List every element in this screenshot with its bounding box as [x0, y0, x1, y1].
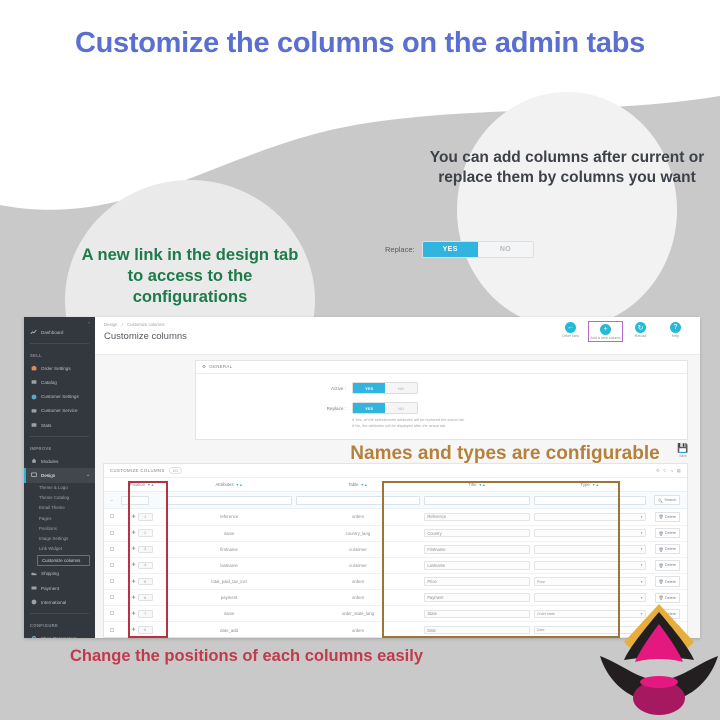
row-type-cell: ▾ — [532, 541, 648, 557]
row-table: customer — [294, 557, 423, 573]
sidebar-item-modules[interactable]: Modules — [24, 454, 95, 468]
row-attribute: reference — [165, 509, 294, 525]
sidebar-item-international[interactable]: International — [24, 595, 95, 609]
sidebar-item-label: Customer Service — [41, 408, 78, 413]
row-position-cell: ✚2 — [119, 525, 164, 541]
bubble-replace-toggle-group: Replace: YES NO — [385, 241, 534, 258]
col-position[interactable]: Position▼▲ — [119, 478, 164, 492]
row-title-input[interactable]: Country — [424, 529, 530, 538]
row-checkbox[interactable] — [110, 514, 114, 518]
row-title-input[interactable]: Reference — [424, 513, 530, 522]
filter-action-cell: 🔍Search — [648, 492, 687, 509]
callout-add-or-replace: You can add columns after current or rep… — [428, 148, 706, 188]
row-action-cell: 🗑Delete — [648, 525, 687, 541]
row-table: order_state_lang — [294, 606, 423, 622]
sidebar-item-customer-settings[interactable]: Customer Settings — [24, 390, 95, 404]
sidebar-item-shipping[interactable]: Shipping — [24, 567, 95, 581]
row-checkbox[interactable] — [110, 595, 114, 599]
row-checkbox[interactable] — [110, 611, 114, 615]
active-yes[interactable]: YES — [353, 383, 385, 393]
row-checkbox-cell — [104, 509, 119, 525]
sidebar-item-label: Stats — [41, 423, 51, 428]
sort-icon[interactable]: ▼▲ — [361, 483, 368, 487]
sidebar-section-sell: SELL — [24, 348, 95, 361]
puzzle-icon — [30, 458, 37, 465]
row-position-cell: ✚1 — [119, 509, 164, 525]
arrow-left-circle-icon: ← — [565, 322, 576, 333]
sort-icon[interactable]: ▼▲ — [147, 483, 154, 487]
sidebar-subitem-theme-catalog[interactable]: Theme Catalog — [24, 493, 95, 503]
search-label: Search — [664, 498, 676, 502]
filter-dash: − — [104, 492, 119, 509]
row-checkbox[interactable] — [110, 563, 114, 567]
panel-header: CUSTOMIZE COLUMNS10 ⚙ ↻ ↘ ▦ — [104, 464, 687, 478]
globe-icon — [30, 599, 37, 606]
table-row: ✚4lastnamecustomerLastname▾🗑Delete — [104, 557, 687, 573]
customer-icon — [30, 393, 37, 400]
chevron-down-icon: ▾ — [641, 515, 643, 519]
chevron-up-icon: ^ — [87, 473, 89, 478]
display-icon — [30, 472, 37, 479]
row-type-select[interactable]: Price▾ — [534, 577, 646, 586]
row-position-cell: ✚7 — [119, 606, 164, 622]
toolbar-label: Help — [659, 334, 692, 338]
row-action-cell: 🗑Delete — [648, 574, 687, 590]
row-action-cell: 🗑Delete — [648, 541, 687, 557]
page-title: Customize the columns on the admin tabs — [0, 27, 720, 60]
row-position-input[interactable]: 1 — [138, 513, 153, 521]
delete-button[interactable]: 🗑Delete — [655, 512, 680, 522]
sidebar-subitem-email-theme[interactable]: Email Theme — [24, 503, 95, 513]
helper-line-2: If No, the attributes will be displayed … — [352, 423, 687, 429]
row-attribute: date_add — [165, 622, 294, 638]
refresh-icon: ↻ — [635, 322, 646, 333]
toolbar-help[interactable]: ? Help — [659, 322, 692, 341]
row-checkbox-cell — [104, 525, 119, 541]
drag-handle-icon[interactable]: ✚ — [131, 579, 135, 585]
table-row: ✚5total_paid_tax_inclordersPricePrice▾🗑D… — [104, 574, 687, 590]
sidebar-divider-3 — [30, 613, 89, 614]
row-checkbox-cell — [104, 574, 119, 590]
admin-screenshot: « Dashboard SELL Order Settings Catalog … — [24, 317, 700, 638]
row-attribute: payment — [165, 590, 294, 606]
stats-icon — [30, 422, 37, 429]
row-position-input[interactable]: 4 — [138, 562, 153, 570]
sidebar-divider-2 — [30, 436, 89, 437]
row-type-select[interactable]: ▾ — [534, 529, 646, 538]
sidebar-item-order-settings[interactable]: Order Settings — [24, 361, 95, 375]
row-type-select[interactable]: ▾ — [534, 513, 646, 522]
row-position-input[interactable]: 5 — [138, 578, 153, 586]
drag-handle-icon[interactable]: ✚ — [131, 627, 135, 633]
row-checkbox-cell — [104, 541, 119, 557]
admin-sidebar: « Dashboard SELL Order Settings Catalog … — [24, 317, 95, 638]
row-title-input[interactable]: Payment — [424, 593, 530, 602]
row-type-cell: ▾ — [532, 557, 648, 573]
row-table: customer — [294, 541, 423, 557]
row-type-select[interactable]: ▾ — [534, 561, 646, 570]
filter-title-cell — [422, 492, 532, 509]
toolbar-label: Reload — [624, 334, 657, 338]
row-attribute: total_paid_tax_incl — [165, 574, 294, 590]
sidebar-item-customer-service[interactable]: Customer Service — [24, 404, 95, 418]
row-title-cell: Lastname — [422, 557, 532, 573]
filter-type-input[interactable] — [534, 496, 646, 505]
row-table: country_lang — [294, 525, 423, 541]
row-position-input[interactable]: 6 — [138, 594, 153, 602]
toolbar-label: Add a new column — [589, 336, 622, 340]
row-checkbox-cell — [104, 622, 119, 638]
row-type-select[interactable]: ▾ — [534, 545, 646, 554]
drag-handle-icon[interactable]: ✚ — [131, 546, 135, 552]
sidebar-subitem-link-widget[interactable]: Link Widget — [24, 544, 95, 554]
filter-type-cell — [532, 492, 648, 509]
chevron-down-icon: ▾ — [641, 580, 643, 584]
toolbar-label: Other tabs — [554, 334, 587, 338]
question-circle-icon: ? — [670, 322, 681, 333]
col-attributes[interactable]: Attributes▼▲ — [165, 478, 294, 492]
row-table: orders — [294, 622, 423, 638]
filter-attributes-input[interactable] — [167, 496, 292, 505]
toolbar-reload[interactable]: ↻ Reload — [624, 322, 657, 341]
dashboard-icon — [30, 329, 37, 336]
row-attribute: name — [165, 606, 294, 622]
replace-no[interactable]: NO — [385, 403, 417, 413]
sidebar-item-design[interactable]: Design ^ — [24, 468, 95, 482]
row-checkbox[interactable] — [110, 579, 114, 583]
breadcrumb-separator: / — [122, 322, 123, 327]
table-row: ✚3firstnamecustomerFirstname▾🗑Delete — [104, 541, 687, 557]
trash-icon: 🗑 — [659, 563, 664, 568]
row-table: orders — [294, 509, 423, 525]
sort-icon[interactable]: ▼▲ — [592, 483, 599, 487]
sort-icon[interactable]: ▼▲ — [479, 483, 486, 487]
filter-position-input[interactable] — [121, 496, 149, 505]
general-card: ⚙GENERAL Active : YES NO Replace : YES N… — [195, 360, 688, 440]
active-no[interactable]: NO — [385, 383, 417, 393]
catalog-icon — [30, 379, 37, 386]
sort-icon[interactable]: ▼▲ — [236, 483, 243, 487]
sidebar-section-configure: CONFIGURE — [24, 618, 95, 631]
trash-icon: 🗑 — [659, 547, 664, 552]
gear-icon — [30, 635, 37, 638]
sidebar-item-label: Modules — [41, 459, 58, 464]
chevron-down-icon: ▾ — [641, 531, 643, 535]
filter-table-cell — [294, 492, 423, 509]
general-card-title: GENERAL — [209, 364, 232, 369]
sidebar-item-label: Catalog — [41, 380, 57, 385]
delete-button[interactable]: 🗑Delete — [655, 544, 680, 554]
row-action-cell: 🗑Delete — [648, 509, 687, 525]
row-title-cell: Country — [422, 525, 532, 541]
row-checkbox[interactable] — [110, 531, 114, 535]
breadcrumb-current: Customize columns — [127, 322, 165, 327]
sidebar-item-stats[interactable]: Stats — [24, 418, 95, 432]
row-title-cell: Firstname — [422, 541, 532, 557]
panel-icon-group: ⚙ ↻ ↘ ▦ — [656, 468, 681, 474]
field-active: Active : YES NO — [196, 382, 687, 394]
row-title-input[interactable]: Lastname — [424, 561, 530, 570]
sidebar-item-label: Design — [41, 473, 55, 478]
sidebar-subitem-positions[interactable]: Positions — [24, 523, 95, 533]
admin-toolbar: ← Other tabs + Add a new column ↻ Reload… — [554, 322, 692, 341]
sidebar-collapse-icon[interactable]: « — [24, 317, 95, 325]
bubble-replace-toggle[interactable]: YES NO — [422, 241, 535, 258]
filter-table-input[interactable] — [296, 496, 421, 505]
col-title-label: Title — [469, 482, 477, 487]
row-position-cell: ✚8 — [119, 622, 164, 638]
sidebar-subitem-image-settings[interactable]: Image Settings — [24, 533, 95, 543]
col-select-all — [104, 478, 119, 492]
panel-title: CUSTOMIZE COLUMNS — [110, 468, 165, 473]
row-type-cell: ▾ — [532, 525, 648, 541]
sidebar-item-label: Customer Settings — [41, 394, 79, 399]
sidebar-divider-1 — [30, 343, 89, 344]
field-replace: Replace : YES NO — [196, 402, 687, 414]
delete-button[interactable]: 🗑Delete — [655, 576, 680, 586]
row-attribute: firstname — [165, 541, 294, 557]
sidebar-subitem-theme-logo[interactable]: Theme & Logo — [24, 483, 95, 493]
row-title-input[interactable]: State — [424, 610, 530, 619]
col-type-label: Type — [580, 482, 589, 487]
col-attributes-label: Attributes — [215, 482, 233, 487]
sidebar-subitem-pages[interactable]: Pages — [24, 513, 95, 523]
replace-toggle[interactable]: YES NO — [352, 402, 418, 414]
callout-new-link: A new link in the design tab to access t… — [74, 245, 306, 308]
sidebar-item-label: Shipping — [41, 571, 59, 576]
search-button[interactable]: 🔍Search — [654, 495, 680, 505]
row-title-input[interactable]: Date — [424, 626, 530, 635]
field-active-label: Active : — [312, 386, 346, 391]
bubble-replace-yes[interactable]: YES — [423, 242, 478, 257]
row-title-input[interactable]: Price — [424, 577, 530, 586]
filter-attributes-cell — [165, 492, 294, 509]
drag-handle-icon[interactable]: ✚ — [131, 514, 135, 520]
drag-handle-icon[interactable]: ✚ — [131, 595, 135, 601]
replace-yes[interactable]: YES — [353, 403, 385, 413]
breadcrumb-parent[interactable]: Design — [104, 322, 117, 327]
row-checkbox-cell — [104, 606, 119, 622]
table-row: ✚2namecountry_langCountry▾🗑Delete — [104, 525, 687, 541]
row-table: orders — [294, 574, 423, 590]
row-title-cell: Payment — [422, 590, 532, 606]
table-filter-row: − 🔍Search — [104, 492, 687, 509]
row-type-value: Order state — [537, 612, 555, 616]
save-label: Save — [676, 454, 690, 458]
sidebar-subitem-customize-columns[interactable]: Customize columns — [37, 555, 90, 566]
row-position-input[interactable]: 8 — [138, 626, 153, 634]
row-type-value: Price — [537, 580, 545, 584]
row-checkbox[interactable] — [110, 628, 114, 632]
row-type-value: Date — [537, 628, 545, 632]
row-checkbox-cell — [104, 557, 119, 573]
mascot-logo — [598, 598, 720, 720]
col-table-label: Table — [348, 482, 358, 487]
sliders-icon: ⚙ — [202, 364, 206, 369]
sidebar-item-label: Shop Parameters — [41, 636, 77, 638]
expand-icon[interactable]: ↘ — [670, 468, 674, 474]
admin-page-title: Customize columns — [104, 331, 187, 342]
row-action-cell: 🗑Delete — [648, 557, 687, 573]
callout-names-types: Names and types are configurable — [340, 443, 670, 465]
row-title-cell: State — [422, 606, 532, 622]
gear-icon[interactable]: ⚙ — [656, 468, 660, 474]
truck-icon — [30, 570, 37, 577]
table-row: ✚1referenceordersReference▾🗑Delete — [104, 509, 687, 525]
row-position-input[interactable]: 2 — [138, 529, 153, 537]
sidebar-item-catalog[interactable]: Catalog — [24, 375, 95, 389]
toolbar-other-tabs[interactable]: ← Other tabs — [554, 322, 587, 341]
trash-icon: 🗑 — [659, 514, 664, 519]
row-title-cell: Price — [422, 574, 532, 590]
col-position-label: Position — [130, 482, 145, 487]
breadcrumb: Design / Customize columns — [104, 322, 165, 327]
row-checkbox-cell — [104, 590, 119, 606]
row-position-input[interactable]: 7 — [138, 610, 153, 618]
row-attribute: lastname — [165, 557, 294, 573]
sidebar-item-label: International — [41, 600, 66, 605]
row-title-cell: Date — [422, 622, 532, 638]
delete-button[interactable]: 🗑Delete — [655, 560, 680, 570]
sidebar-item-label: Payment — [41, 586, 59, 591]
row-position-cell: ✚6 — [119, 590, 164, 606]
cart-icon — [30, 365, 37, 372]
admin-main: Design / Customize columns Customize col… — [95, 317, 700, 638]
replace-helper-text: If Yes, all the selectionned attributes … — [196, 417, 687, 429]
chevron-down-icon: ▾ — [641, 563, 643, 567]
refresh-icon[interactable]: ↻ — [663, 468, 667, 474]
drag-handle-icon[interactable]: ✚ — [131, 562, 135, 568]
table-header-row: Position▼▲ Attributes▼▲ Table▼▲ Title▼▲ — [104, 478, 687, 492]
row-title-cell: Reference — [422, 509, 532, 525]
row-position-cell: ✚5 — [119, 574, 164, 590]
grid-icon[interactable]: ▦ — [677, 468, 681, 474]
general-card-header: ⚙GENERAL — [196, 361, 687, 374]
row-position-cell: ✚4 — [119, 557, 164, 573]
bubble-replace-no[interactable]: NO — [478, 242, 533, 257]
row-position-cell: ✚3 — [119, 541, 164, 557]
chevron-down-icon: ▾ — [641, 547, 643, 551]
row-position-input[interactable]: 3 — [138, 546, 153, 554]
col-title[interactable]: Title▼▲ — [422, 478, 532, 492]
sidebar-section-improve: IMPROVE — [24, 441, 95, 454]
sidebar-item-payment[interactable]: Payment — [24, 581, 95, 595]
card-icon — [30, 585, 37, 592]
trash-icon: 🗑 — [659, 531, 664, 536]
delete-button[interactable]: 🗑Delete — [655, 528, 680, 538]
chat-icon — [30, 407, 37, 414]
sidebar-item-shop-parameters[interactable]: Shop Parameters — [24, 631, 95, 638]
search-icon: 🔍 — [658, 498, 663, 503]
callout-change-positions: Change the positions of each columns eas… — [70, 647, 490, 666]
save-icon: 💾 — [677, 443, 688, 453]
save-button[interactable]: 💾 Save — [676, 443, 690, 458]
row-type-cell: ▾ — [532, 509, 648, 525]
trash-icon: 🗑 — [659, 579, 664, 584]
drag-handle-icon[interactable]: ✚ — [131, 530, 135, 536]
sidebar-item-dashboard[interactable]: Dashboard — [24, 325, 95, 339]
plus-circle-icon: + — [600, 324, 611, 335]
row-type-cell: Price▾ — [532, 574, 648, 590]
toolbar-add-new-column[interactable]: + Add a new column — [589, 322, 622, 341]
active-toggle[interactable]: YES NO — [352, 382, 418, 394]
row-table: orders — [294, 590, 423, 606]
filter-title-input[interactable] — [424, 496, 530, 505]
sidebar-item-label: Dashboard — [41, 330, 63, 335]
col-type[interactable]: Type▼▲ — [532, 478, 648, 492]
col-table[interactable]: Table▼▲ — [294, 478, 423, 492]
filter-position-cell — [119, 492, 164, 509]
col-actions — [648, 478, 687, 492]
field-replace-label: Replace : — [312, 406, 346, 411]
panel-count-badge: 10 — [169, 467, 182, 474]
row-title-input[interactable]: Firstname — [424, 545, 530, 554]
admin-header: Design / Customize columns Customize col… — [95, 317, 700, 355]
drag-handle-icon[interactable]: ✚ — [131, 611, 135, 617]
bubble-replace-label: Replace: — [385, 245, 415, 254]
row-attribute: name — [165, 525, 294, 541]
sidebar-item-label: Order Settings — [41, 366, 71, 371]
row-checkbox[interactable] — [110, 547, 114, 551]
panel-title-group: CUSTOMIZE COLUMNS10 — [110, 467, 182, 474]
